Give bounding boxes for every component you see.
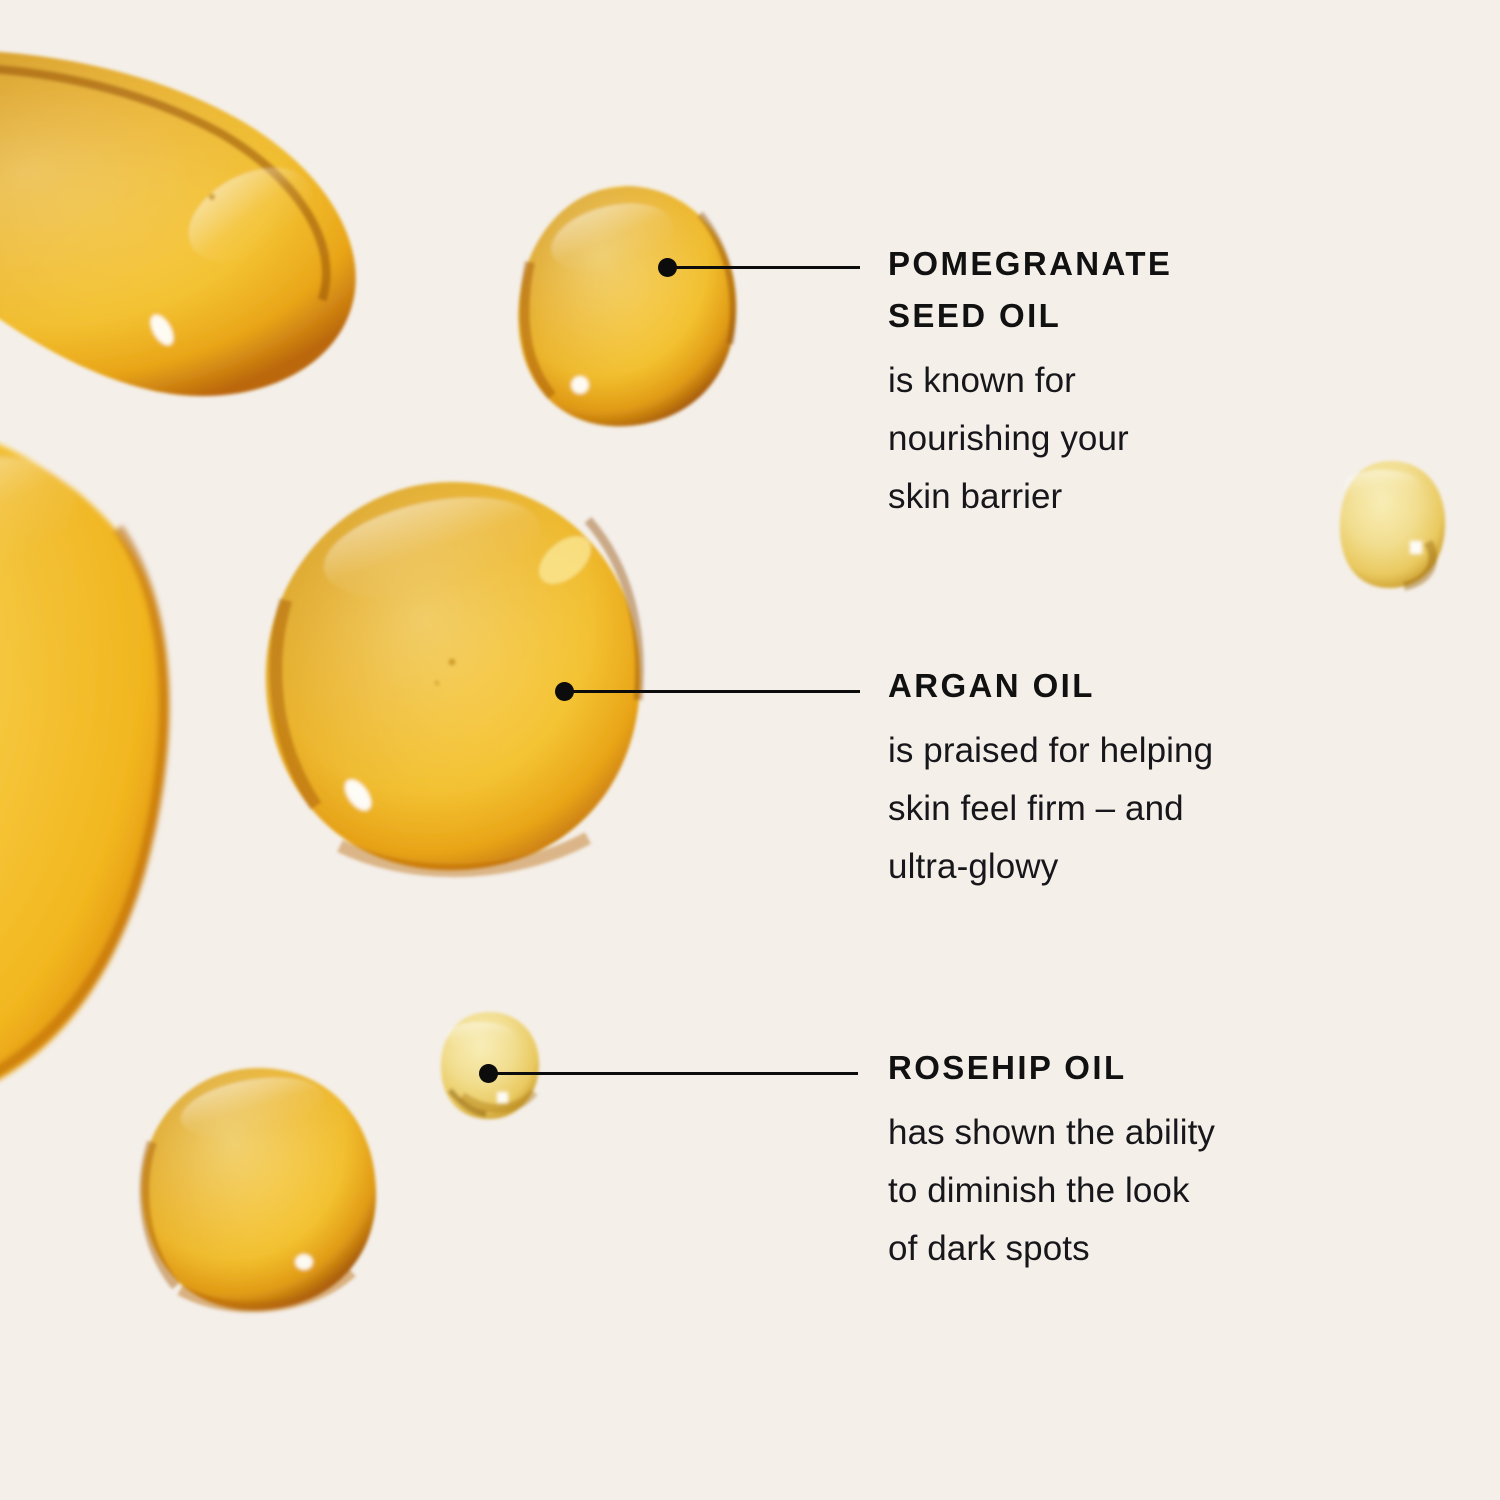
leader-dot xyxy=(658,258,677,277)
callout-pomegranate-seed-oil: POMEGRANATE SEED OIL is known for nouris… xyxy=(888,238,1408,526)
leader-dot xyxy=(479,1064,498,1083)
droplet-argan-target xyxy=(266,480,640,870)
droplet-large-left-edge xyxy=(0,405,169,1111)
droplet-teardrop-top-left xyxy=(0,50,356,396)
droplet-highlight xyxy=(339,775,376,816)
callout-title: ARGAN OIL xyxy=(888,660,1408,712)
callout-title: POMEGRANATE SEED OIL xyxy=(888,238,1408,342)
callout-body: is praised for helping skin feel firm – … xyxy=(888,722,1408,896)
callout-title: ROSEHIP OIL xyxy=(888,1042,1408,1094)
droplet-bottom-left xyxy=(142,1068,376,1310)
droplet-highlight xyxy=(1410,541,1422,554)
leader-dot xyxy=(555,682,574,701)
callout-body: is known for nourishing your skin barrie… xyxy=(888,352,1408,526)
droplet-highlight xyxy=(146,311,179,349)
droplet-highlight xyxy=(295,1254,313,1270)
leader-line-segment xyxy=(564,690,860,693)
callout-body: has shown the ability to diminish the lo… xyxy=(888,1104,1408,1278)
leader-line-segment xyxy=(667,266,860,269)
droplet-pomegranate-target xyxy=(518,186,736,426)
callout-rosehip-oil: ROSEHIP OIL has shown the ability to dim… xyxy=(888,1042,1408,1278)
leader-line-segment xyxy=(488,1072,858,1075)
droplet-highlight xyxy=(571,376,589,394)
droplet-highlight xyxy=(497,1092,508,1103)
callout-argan-oil: ARGAN OIL is praised for helping skin fe… xyxy=(888,660,1408,896)
infographic-canvas: POMEGRANATE SEED OIL is known for nouris… xyxy=(0,0,1500,1500)
